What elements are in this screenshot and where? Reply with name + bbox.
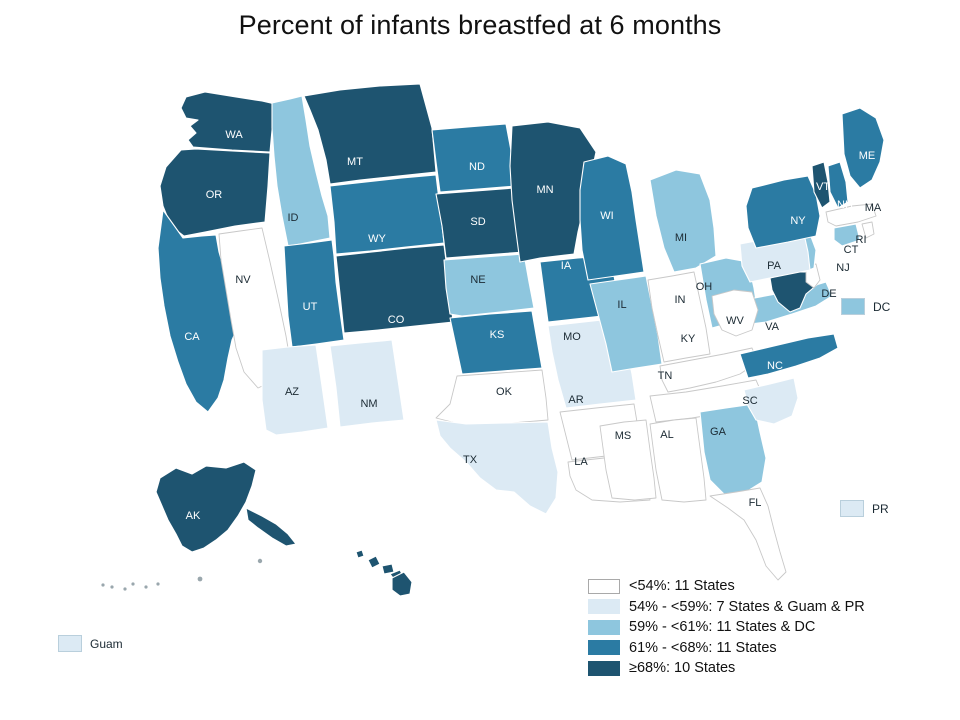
state-wa[interactable] <box>181 92 275 152</box>
state-label-md: MD <box>817 310 834 322</box>
inset-key-guam: Guam <box>58 635 123 652</box>
state-ak[interactable] <box>246 508 296 546</box>
states-layer <box>101 84 884 596</box>
legend-label: 61% - <68%: 11 States <box>629 640 777 656</box>
state-az[interactable] <box>262 345 328 435</box>
aleutian-island-dot <box>156 582 159 585</box>
state-ak[interactable] <box>156 462 256 552</box>
state-wv[interactable] <box>712 290 758 336</box>
dc-label: DC <box>873 300 890 314</box>
legend-swatch <box>588 579 620 594</box>
legend-label: 54% - <59%: 7 States & Guam & PR <box>629 599 865 615</box>
state-wi[interactable] <box>580 156 644 280</box>
inset-key-dc: DC <box>841 298 890 315</box>
legend-row: <54%: 11 States <box>588 576 948 597</box>
legend-row: 54% - <59%: 7 States & Guam & PR <box>588 597 948 618</box>
legend-row: 59% - <61%: 11 States & DC <box>588 617 948 638</box>
state-nm[interactable] <box>330 340 404 427</box>
aleutian-island-dot <box>258 559 262 563</box>
state-al[interactable] <box>650 418 706 502</box>
guam-swatch <box>58 635 82 652</box>
state-hi[interactable] <box>356 550 364 558</box>
legend-label: <54%: 11 States <box>629 578 735 594</box>
map-legend: <54%: 11 States54% - <59%: 7 States & Gu… <box>588 576 948 679</box>
state-co[interactable] <box>336 245 453 333</box>
state-mi[interactable] <box>650 170 716 272</box>
state-ks[interactable] <box>450 311 542 374</box>
state-me[interactable] <box>842 108 884 188</box>
state-ri[interactable] <box>862 222 874 238</box>
state-wy[interactable] <box>330 175 444 254</box>
state-or[interactable] <box>160 149 270 236</box>
state-nd[interactable] <box>432 124 516 192</box>
aleutian-island-dot <box>131 582 134 585</box>
legend-swatch <box>588 620 620 635</box>
state-ne[interactable] <box>444 254 534 316</box>
state-label-ct: CT <box>844 244 859 256</box>
guam-label: Guam <box>90 637 123 651</box>
legend-row: 61% - <68%: 11 States <box>588 638 948 659</box>
map-page: Percent of infants breastfed at 6 months… <box>0 0 960 720</box>
state-sd[interactable] <box>436 188 524 258</box>
legend-swatch <box>588 640 620 655</box>
state-nh[interactable] <box>828 162 848 208</box>
legend-label: ≥68%: 10 States <box>629 660 735 676</box>
dc-swatch <box>841 298 865 315</box>
legend-label: 59% - <61%: 11 States & DC <box>629 619 815 635</box>
state-hi[interactable] <box>368 556 380 568</box>
aleutian-island-dot <box>123 587 126 590</box>
aleutian-island-dot <box>144 585 147 588</box>
state-mt[interactable] <box>304 84 436 184</box>
state-nc[interactable] <box>740 334 838 378</box>
state-ct[interactable] <box>834 224 860 246</box>
aleutian-island-dot <box>198 577 203 582</box>
pr-label: PR <box>872 502 889 516</box>
inset-key-pr: PR <box>840 500 889 517</box>
state-ny[interactable] <box>746 176 820 248</box>
legend-row: ≥68%: 10 States <box>588 658 948 679</box>
state-label-va: VA <box>765 321 780 333</box>
state-ut[interactable] <box>284 240 344 347</box>
state-ok[interactable] <box>436 370 548 426</box>
state-label-nj: NJ <box>836 262 849 274</box>
state-hi[interactable] <box>382 564 394 574</box>
state-label-hi: HI <box>336 570 347 582</box>
aleutian-island-dot <box>110 585 113 588</box>
aleutian-island-dot <box>101 583 104 586</box>
legend-swatch <box>588 599 620 614</box>
state-tx[interactable] <box>436 420 558 514</box>
state-fl[interactable] <box>710 488 786 580</box>
legend-swatch <box>588 661 620 676</box>
pr-swatch <box>840 500 864 517</box>
